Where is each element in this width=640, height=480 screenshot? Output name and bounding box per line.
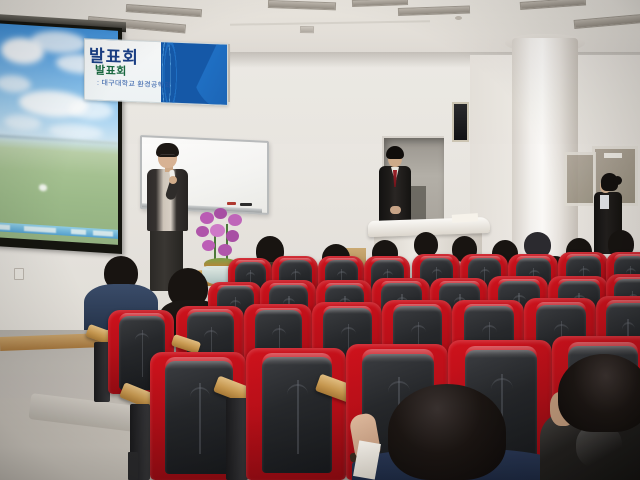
orchid-bloom bbox=[226, 230, 239, 242]
orchid-bloom bbox=[202, 240, 215, 251]
orchid-bloom bbox=[196, 226, 209, 237]
banner-subtitle: 발표회 bbox=[95, 62, 127, 79]
suited-man-hair bbox=[386, 146, 404, 159]
orchid-bloom bbox=[200, 212, 214, 224]
seat-leg bbox=[128, 452, 138, 480]
foreground-right-hair bbox=[558, 354, 640, 432]
screen-taskbar bbox=[0, 222, 118, 239]
foreground-hair bbox=[388, 384, 506, 480]
presenter-torso bbox=[147, 169, 188, 231]
orchid-bloom bbox=[228, 214, 242, 226]
orchid-bloom bbox=[214, 208, 227, 219]
banner-organization: : 대구대학교 환경공학과 bbox=[97, 78, 171, 91]
orchid-bloom bbox=[210, 224, 225, 237]
auditorium-seat[interactable] bbox=[246, 348, 346, 480]
smoke-detector-icon bbox=[455, 16, 462, 20]
auditorium-photo: 발표회 발표회 : 대구대학교 환경공학과 bbox=[0, 0, 640, 480]
marker-icon bbox=[227, 202, 236, 205]
banner-hanging-rod bbox=[228, 44, 230, 102]
presenter-hand bbox=[169, 176, 177, 184]
suited-man-hands bbox=[390, 206, 401, 214]
orchid-bloom bbox=[218, 244, 232, 256]
wall-speaker-icon bbox=[452, 102, 469, 142]
ceiling-light-fixture bbox=[300, 26, 314, 33]
power-outlet-icon bbox=[14, 268, 24, 280]
notice-board bbox=[564, 152, 596, 206]
event-banner: 발표회 발표회 : 대구대학교 환경공학과 bbox=[84, 38, 228, 106]
notice-board-label bbox=[604, 153, 622, 158]
eyeglasses-icon bbox=[160, 154, 175, 159]
hair-bun bbox=[613, 176, 622, 185]
standing-woman-blouse bbox=[600, 195, 609, 209]
armrest-post bbox=[226, 398, 248, 480]
